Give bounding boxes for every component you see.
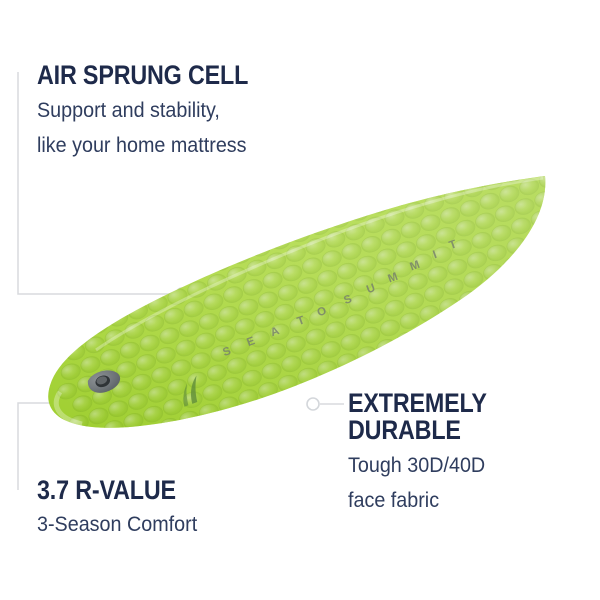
callout-r-value-body-line1: 3-Season Comfort [37,512,291,538]
callout-extremely-durable-body-line1: Tough 30D/40D [348,453,574,479]
callout-air-sprung-cell-title: AIR SPRUNG CELL [37,62,301,89]
callout-extremely-durable: EXTREMELY DURABLE Tough 30D/40D face fab… [348,390,588,515]
callout-air-sprung-cell-body-line1: Support and stability, [37,98,319,124]
callout-extremely-durable-title-line2: DURABLE [348,417,559,444]
callout-r-value-title: 3.7 R-VALUE [37,477,275,504]
callout-air-sprung-cell: AIR SPRUNG CELL Support and stability, l… [37,62,337,160]
callout-extremely-durable-body-line2: face fabric [348,488,574,514]
product-infographic: S E A T O S U M M I T AIR SPRUNG CELL Su… [0,0,600,600]
callout-r-value: 3.7 R-VALUE 3-Season Comfort [37,477,307,538]
callout-air-sprung-cell-body-line2: like your home mattress [37,133,319,159]
leader-marker-durable [307,398,319,410]
callout-extremely-durable-title-line1: EXTREMELY [348,390,559,417]
